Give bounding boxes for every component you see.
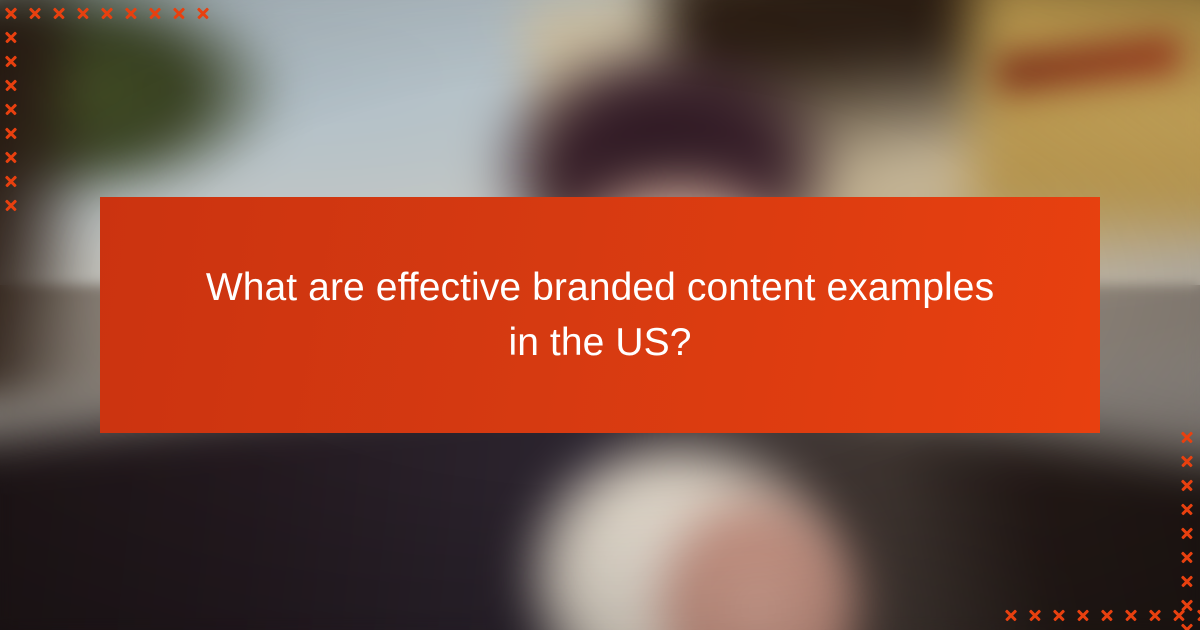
x-mark-icon [1052, 608, 1066, 622]
x-mark-icon [1180, 430, 1194, 444]
social-share-card: What are effective branded content examp… [0, 0, 1200, 630]
x-mark-icon [28, 6, 42, 20]
x-mark-icon [1172, 608, 1186, 622]
x-mark-icon [4, 78, 18, 92]
x-mark-icon [4, 30, 18, 44]
x-mark-icon [4, 102, 18, 116]
x-mark-icon [1004, 608, 1018, 622]
x-mark-icon [4, 54, 18, 68]
x-mark-icon [100, 6, 114, 20]
x-mark-icon [1180, 454, 1194, 468]
x-mark-icon [1180, 622, 1194, 630]
x-mark-icon [172, 6, 186, 20]
x-mark-icon [1180, 502, 1194, 516]
x-mark-icon [1196, 608, 1200, 622]
x-mark-icon [1180, 574, 1194, 588]
x-mark-icon [196, 6, 210, 20]
x-mark-icon [1180, 478, 1194, 492]
x-mark-icon [124, 6, 138, 20]
x-mark-icon [1124, 608, 1138, 622]
x-mark-icon [4, 174, 18, 188]
x-mark-icon [4, 126, 18, 140]
x-mark-icon [1100, 608, 1114, 622]
x-mark-icon [52, 6, 66, 20]
x-mark-icon [1180, 526, 1194, 540]
x-mark-icon [1148, 608, 1162, 622]
x-mark-icon [1076, 608, 1090, 622]
headline-banner: What are effective branded content examp… [100, 197, 1100, 433]
headline-text: What are effective branded content examp… [200, 260, 1000, 371]
x-mark-icon [1180, 550, 1194, 564]
x-mark-icon [148, 6, 162, 20]
x-mark-icon [4, 150, 18, 164]
x-mark-icon [4, 6, 18, 20]
x-mark-icon [4, 198, 18, 212]
x-mark-icon [1028, 608, 1042, 622]
x-mark-icon [76, 6, 90, 20]
